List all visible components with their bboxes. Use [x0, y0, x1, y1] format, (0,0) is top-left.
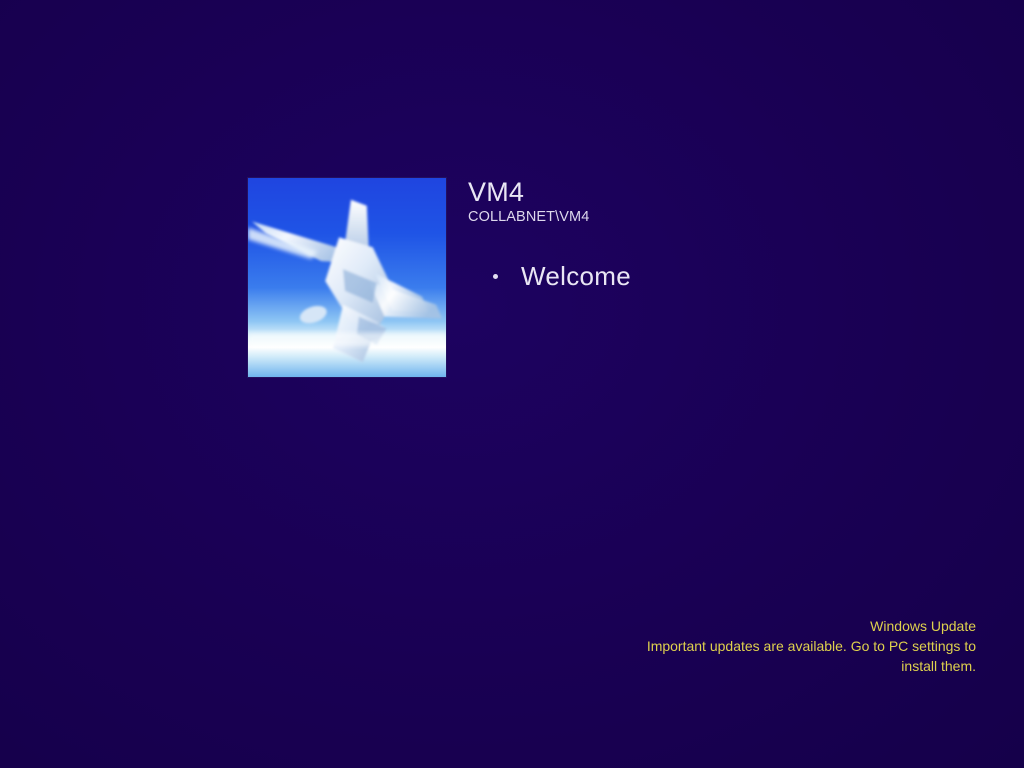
avatar[interactable] — [247, 177, 447, 378]
account-display-name: VM4 — [468, 177, 589, 207]
windows-update-title: Windows Update — [616, 616, 976, 636]
account-text: VM4 COLLABNET\VM4 — [468, 177, 589, 227]
airplane-avatar-icon — [248, 178, 446, 377]
account-status-text: Welcome — [521, 261, 631, 291]
windows-update-message: Important updates are available. Go to P… — [616, 636, 976, 676]
account-domain-name: COLLABNET\VM4 — [468, 208, 589, 227]
welcome-screen[interactable]: VM4 COLLABNET\VM4 Welcome Windows Update… — [0, 0, 1024, 768]
account-status-row: Welcome — [493, 261, 631, 291]
windows-update-notification[interactable]: Windows Update Important updates are ava… — [616, 616, 976, 676]
bullet-icon — [493, 274, 498, 279]
